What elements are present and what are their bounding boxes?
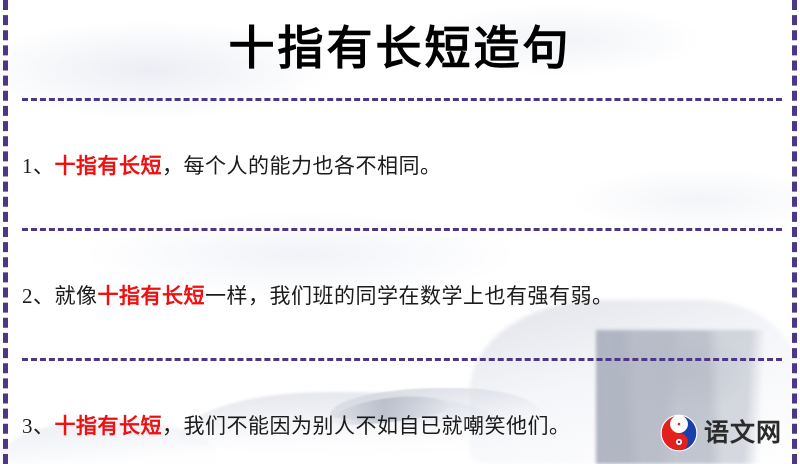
- taiji-yinyang-icon: [660, 414, 698, 452]
- sentence-3-idiom: 十指有长短: [55, 414, 163, 438]
- sentence-3-index: 3、: [22, 414, 55, 438]
- sentence-2-index: 2、: [22, 284, 55, 308]
- worksheet-page: 十指有长短造句 1、十指有长短，每个人的能力也各不相同。 2、就像十指有长短一样…: [0, 0, 800, 464]
- sentence-1-idiom: 十指有长短: [55, 154, 163, 178]
- spacer-3: [0, 231, 800, 256]
- page-title-area: 十指有长短造句: [0, 0, 800, 98]
- sentence-2-idiom: 十指有长短: [98, 284, 206, 308]
- spacer-2: [0, 206, 800, 228]
- right-dashed-border: [792, 0, 797, 464]
- left-dashed-border: [3, 0, 8, 464]
- divider-after-sentence-1: [22, 228, 782, 231]
- sentence-2-lead: 就像: [55, 284, 98, 308]
- sentence-1-index: 1、: [22, 154, 55, 178]
- spacer-4: [0, 336, 800, 358]
- sentence-3-rest: ，我们不能因为别人不如自已就嘲笑他们。: [162, 414, 571, 438]
- page-title: 十指有长短造句: [229, 26, 572, 72]
- sentence-item-1: 1、十指有长短，每个人的能力也各不相同。: [0, 147, 800, 185]
- sentence-2-rest: 一样，我们班的同学在数学上也有强有弱。: [205, 284, 614, 308]
- site-logo-text: 语文网: [704, 421, 782, 446]
- sentence-item-2: 2、就像十指有长短一样，我们班的同学在数学上也有强有弱。: [0, 277, 800, 315]
- site-logo[interactable]: 语文网: [660, 414, 782, 452]
- sentence-1-rest: ，每个人的能力也各不相同。: [162, 154, 442, 178]
- sentence-list: 1、十指有长短，每个人的能力也各不相同。 2、就像十指有长短一样，我们班的同学在…: [0, 101, 800, 464]
- spacer-5: [0, 361, 800, 386]
- spacer-1: [0, 101, 800, 126]
- divider-after-sentence-2: [22, 358, 782, 361]
